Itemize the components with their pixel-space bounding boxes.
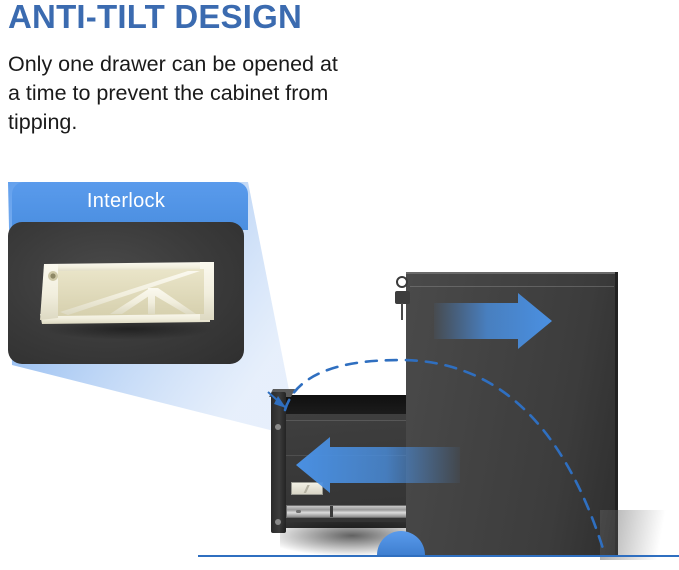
arrow-open-right xyxy=(434,293,552,349)
floor-baseline xyxy=(198,555,679,557)
arrow-close-left xyxy=(296,437,460,493)
product-feature-graphic: ANTI-TILT DESIGN Only one drawer can be … xyxy=(0,0,679,570)
annotation-overlay xyxy=(0,0,679,570)
